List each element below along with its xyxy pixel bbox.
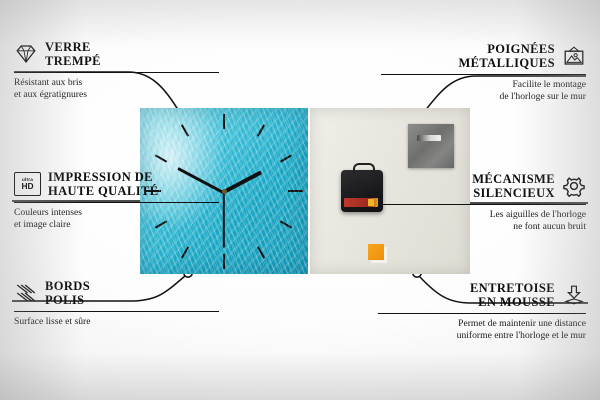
divider [14, 72, 219, 73]
metal-hanger-plate [408, 124, 454, 168]
feature-verre-trempe: VERRETREMPÉ Résistant aux briset aux égr… [14, 40, 219, 102]
feature-title: IMPRESSION DEHAUTE QUALITÉ [48, 170, 158, 198]
divider [14, 202, 219, 203]
divider [14, 311, 219, 312]
feature-title: VERRETREMPÉ [45, 40, 101, 68]
foam-spacer [368, 244, 384, 260]
clock-hour-hand [223, 171, 262, 194]
feature-title: MÉCANISMESILENCIEUX [472, 172, 555, 200]
feature-subtitle: Surface lisse et sûre [14, 316, 219, 328]
feature-title: POIGNÉESMÉTALLIQUES [458, 42, 555, 70]
feature-impression-haute-qualite: ultra HD IMPRESSION DEHAUTE QUALITÉ Coul… [14, 170, 219, 232]
feature-subtitle: Résistant aux briset aux égratignures [14, 77, 219, 102]
divider [381, 204, 586, 205]
feature-bords-polis: BORDSPOLIS Surface lisse et sûre [14, 279, 219, 328]
feature-entretoise-en-mousse: ENTRETOISEEN MOUSSE Permet de maintenir … [378, 281, 586, 343]
ultra-hd-icon: ultra HD [14, 172, 41, 196]
feature-subtitle: Couleurs intenseset image claire [14, 207, 219, 232]
diamond-icon [14, 43, 38, 65]
feature-mecanisme-silencieux: MÉCANISMESILENCIEUX Les aiguilles de l'h… [381, 172, 586, 234]
foam-spacer-arrow-icon [562, 284, 586, 306]
gear-icon [562, 175, 586, 197]
ultra-hd-bottom: HD [21, 182, 33, 190]
divider [381, 74, 586, 75]
feature-poignees-metalliques: POIGNÉESMÉTALLIQUES Facilite le montaged… [381, 42, 586, 104]
feature-subtitle: Permet de maintenir une distanceuniforme… [378, 318, 586, 343]
infographic-canvas: VERRETREMPÉ Résistant aux briset aux égr… [0, 0, 600, 400]
battery [344, 198, 378, 207]
feature-subtitle: Les aiguilles de l'horlogene font aucun … [381, 209, 586, 234]
feature-subtitle: Facilite le montagede l'horloge sur le m… [381, 79, 586, 104]
clock-second-hand [223, 192, 225, 248]
polished-edges-icon [14, 282, 38, 304]
feature-title: BORDSPOLIS [45, 279, 90, 307]
feature-title: ENTRETOISEEN MOUSSE [470, 281, 555, 309]
divider [378, 313, 586, 314]
framed-picture-icon [562, 45, 586, 67]
quartz-movement [341, 170, 383, 212]
